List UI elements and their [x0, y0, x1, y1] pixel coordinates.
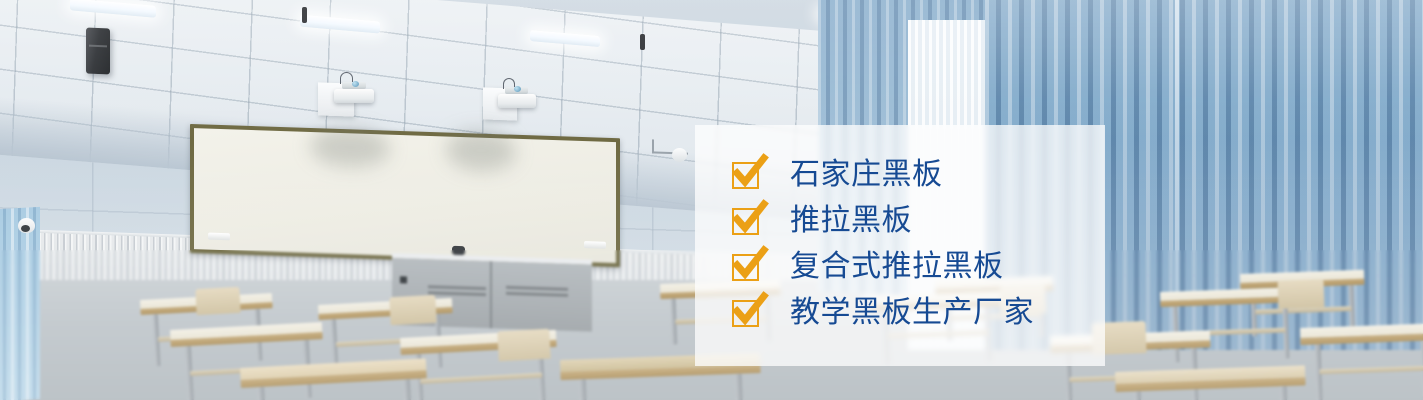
feature-item-4[interactable]: 教学黑板生产厂家 [695, 290, 1115, 336]
checkbox-checked-icon [732, 254, 759, 281]
classroom-whiteboard [190, 124, 620, 267]
whiteboard-magnet-left [208, 233, 230, 241]
student-chair [1278, 279, 1325, 309]
feature-item-2[interactable]: 推拉黑板 [695, 198, 1115, 244]
curtain-left [0, 207, 40, 400]
feature-list: 石家庄黑板 推拉黑板 复合式推拉黑板 教 [695, 125, 1115, 366]
projector-lens-1 [352, 81, 359, 87]
wall-dome-camera-2 [672, 148, 687, 162]
whiteboard-magnet-right [584, 241, 606, 249]
ceiling-sensor-2 [640, 34, 645, 50]
feature-item-1[interactable]: 石家庄黑板 [695, 152, 1115, 198]
cabinet-knob [400, 276, 407, 283]
whiteboard-surface [194, 128, 616, 263]
feature-label: 教学黑板生产厂家 [790, 298, 1034, 328]
ceiling-sensor-1 [302, 7, 307, 23]
classroom-hero-banner: 石家庄黑板 推拉黑板 复合式推拉黑板 教 [0, 0, 1423, 400]
student-chair [389, 295, 436, 325]
board-camera [452, 246, 465, 255]
student-chair [195, 287, 240, 315]
wall-dome-camera [18, 218, 35, 233]
projector-body-2 [498, 94, 536, 108]
checkbox-checked-icon [732, 300, 759, 327]
cabinet-vent-2 [428, 291, 486, 296]
student-chair [497, 329, 550, 362]
projector-lens-2 [514, 86, 521, 92]
cabinet-vent-4 [506, 292, 568, 297]
projector-body-1 [334, 89, 374, 103]
feature-label: 推拉黑板 [790, 206, 912, 236]
cabinet-seam [490, 261, 492, 328]
checkbox-checked-icon [732, 208, 759, 235]
curtain-seam [1175, 0, 1179, 340]
wall-speaker [86, 28, 110, 75]
checkbox-checked-icon [732, 162, 759, 189]
feature-label: 复合式推拉黑板 [790, 252, 1004, 282]
feature-item-3[interactable]: 复合式推拉黑板 [695, 244, 1115, 290]
cabinet-vent-3 [506, 286, 568, 291]
cabinet-vent-1 [428, 285, 486, 290]
feature-label: 石家庄黑板 [790, 160, 943, 190]
